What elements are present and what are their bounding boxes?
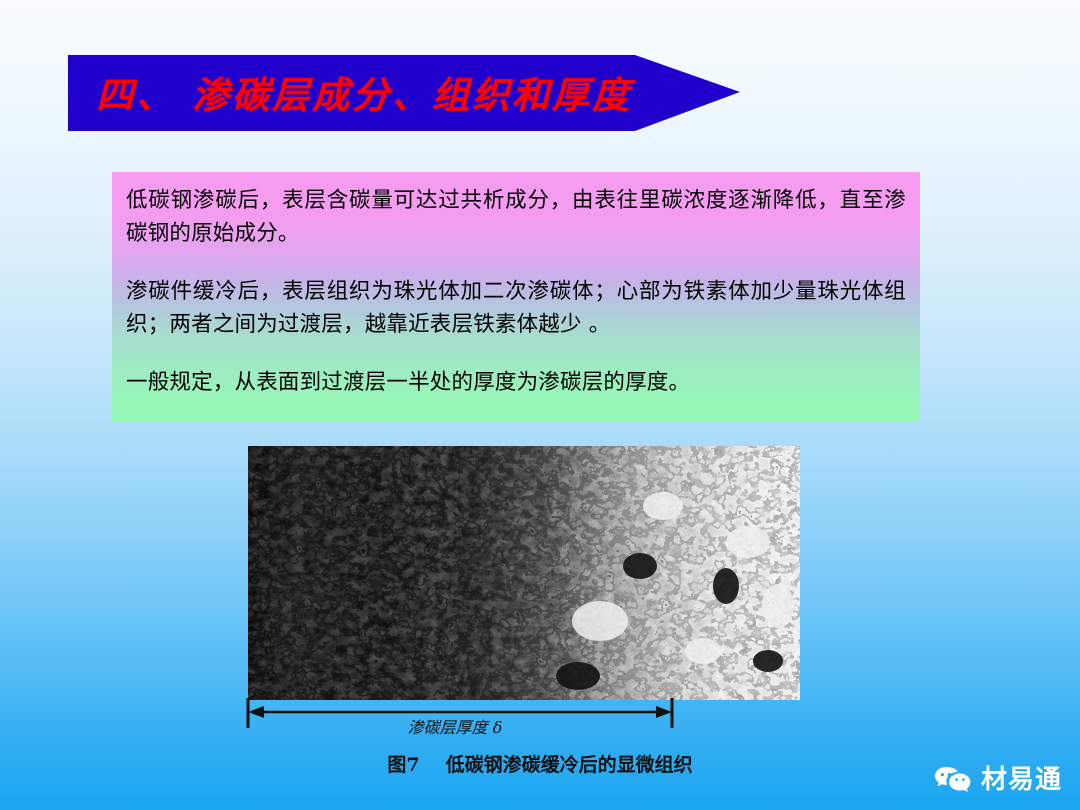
dimension-label: 渗碳层厚度 δ: [238, 714, 672, 738]
page-title: 四、 渗碳层成分、组织和厚度: [96, 65, 632, 119]
slide-canvas: 四、 渗碳层成分、组织和厚度 低碳钢渗碳后，表层含碳量可达过共析成分，由表往里碳…: [0, 0, 1080, 810]
figure-caption: 图7低碳钢渗碳缓冷后的显微组织: [0, 750, 1080, 777]
body-text-box: 低碳钢渗碳后，表层含碳量可达过共析成分，由表往里碳浓度逐渐降低，直至渗碳钢的原始…: [112, 172, 920, 422]
paragraph-1: 低碳钢渗碳后，表层含碳量可达过共析成分，由表往里碳浓度逐渐降低，直至渗碳钢的原始…: [126, 184, 906, 250]
micrograph-image: [248, 446, 800, 700]
figure-caption-text: 低碳钢渗碳缓冷后的显微组织: [446, 754, 693, 776]
watermark: 材易通: [935, 764, 1062, 796]
watermark-label: 材易通: [981, 767, 1062, 793]
wechat-icon: [935, 764, 975, 796]
paragraph-2: 渗碳件缓冷后，表层组织为珠光体加二次渗碳体；心部为铁素体加少量珠光体组织；两者之…: [126, 275, 906, 341]
wechat-icon-glyph: [935, 764, 975, 796]
dimension-line: 渗碳层厚度 δ: [238, 698, 684, 746]
micrograph-rendering: [248, 446, 800, 700]
paragraph-3: 一般规定，从表面到过渡层一半处的厚度为渗碳层的厚度。: [126, 366, 906, 399]
figure-number: 图7: [387, 754, 419, 776]
title-banner: 四、 渗碳层成分、组织和厚度: [68, 55, 740, 131]
